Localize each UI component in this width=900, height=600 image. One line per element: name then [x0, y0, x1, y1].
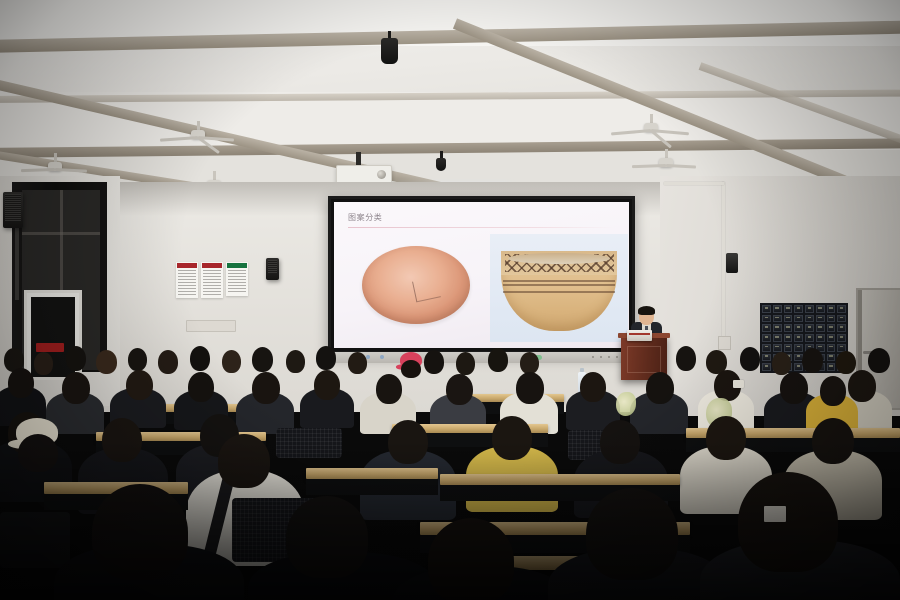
input-button[interactable] — [366, 355, 370, 359]
hair-clip — [764, 506, 786, 522]
bouquet — [616, 392, 636, 416]
slide-image-pottery-bowl-side — [490, 234, 628, 342]
desk-front — [306, 479, 438, 495]
head — [18, 434, 58, 472]
track-spotlight-icon — [436, 158, 446, 171]
status-dot — [608, 356, 610, 358]
wall-conduit — [722, 182, 725, 340]
status-dot — [616, 356, 618, 358]
head — [218, 434, 270, 488]
head — [286, 496, 368, 578]
chair-back — [276, 428, 342, 458]
status-dot — [600, 356, 602, 358]
hair-clip — [733, 380, 744, 388]
head — [738, 472, 838, 572]
wall-poster — [176, 262, 198, 298]
desk — [440, 474, 680, 485]
wall-speaker — [726, 253, 738, 273]
menu-button[interactable] — [380, 355, 384, 359]
presenter-hair — [638, 306, 655, 315]
head — [428, 518, 514, 600]
whiteboard-bezel — [330, 352, 635, 363]
projection-screen: 图案分类 — [328, 196, 635, 354]
slide-title-rule — [348, 227, 615, 228]
head — [820, 376, 846, 406]
wall-notice-plate — [186, 320, 236, 332]
exit-sign — [36, 343, 64, 352]
window-mullion — [22, 232, 100, 235]
slide-image-pottery-bowl-top — [362, 246, 470, 324]
lecture-hall-photo: 图案分类 — [0, 0, 900, 600]
status-dot — [592, 356, 594, 358]
wall-speaker — [266, 258, 279, 280]
head — [586, 488, 678, 580]
podium-laptop — [627, 330, 652, 341]
head — [401, 360, 421, 378]
slide-title: 图案分类 — [348, 212, 615, 223]
projector-mount — [356, 152, 361, 165]
wall-speaker — [3, 192, 23, 228]
slide-content: 图案分类 — [334, 202, 629, 348]
chair-back — [0, 512, 70, 568]
wall-poster — [226, 262, 248, 296]
track-spotlight-icon — [381, 38, 398, 64]
conduit-junction-box — [718, 336, 731, 350]
head — [92, 484, 188, 580]
desk — [306, 468, 438, 479]
wall-poster — [201, 262, 223, 298]
wall-conduit — [664, 182, 724, 185]
window-mullion — [60, 190, 63, 306]
